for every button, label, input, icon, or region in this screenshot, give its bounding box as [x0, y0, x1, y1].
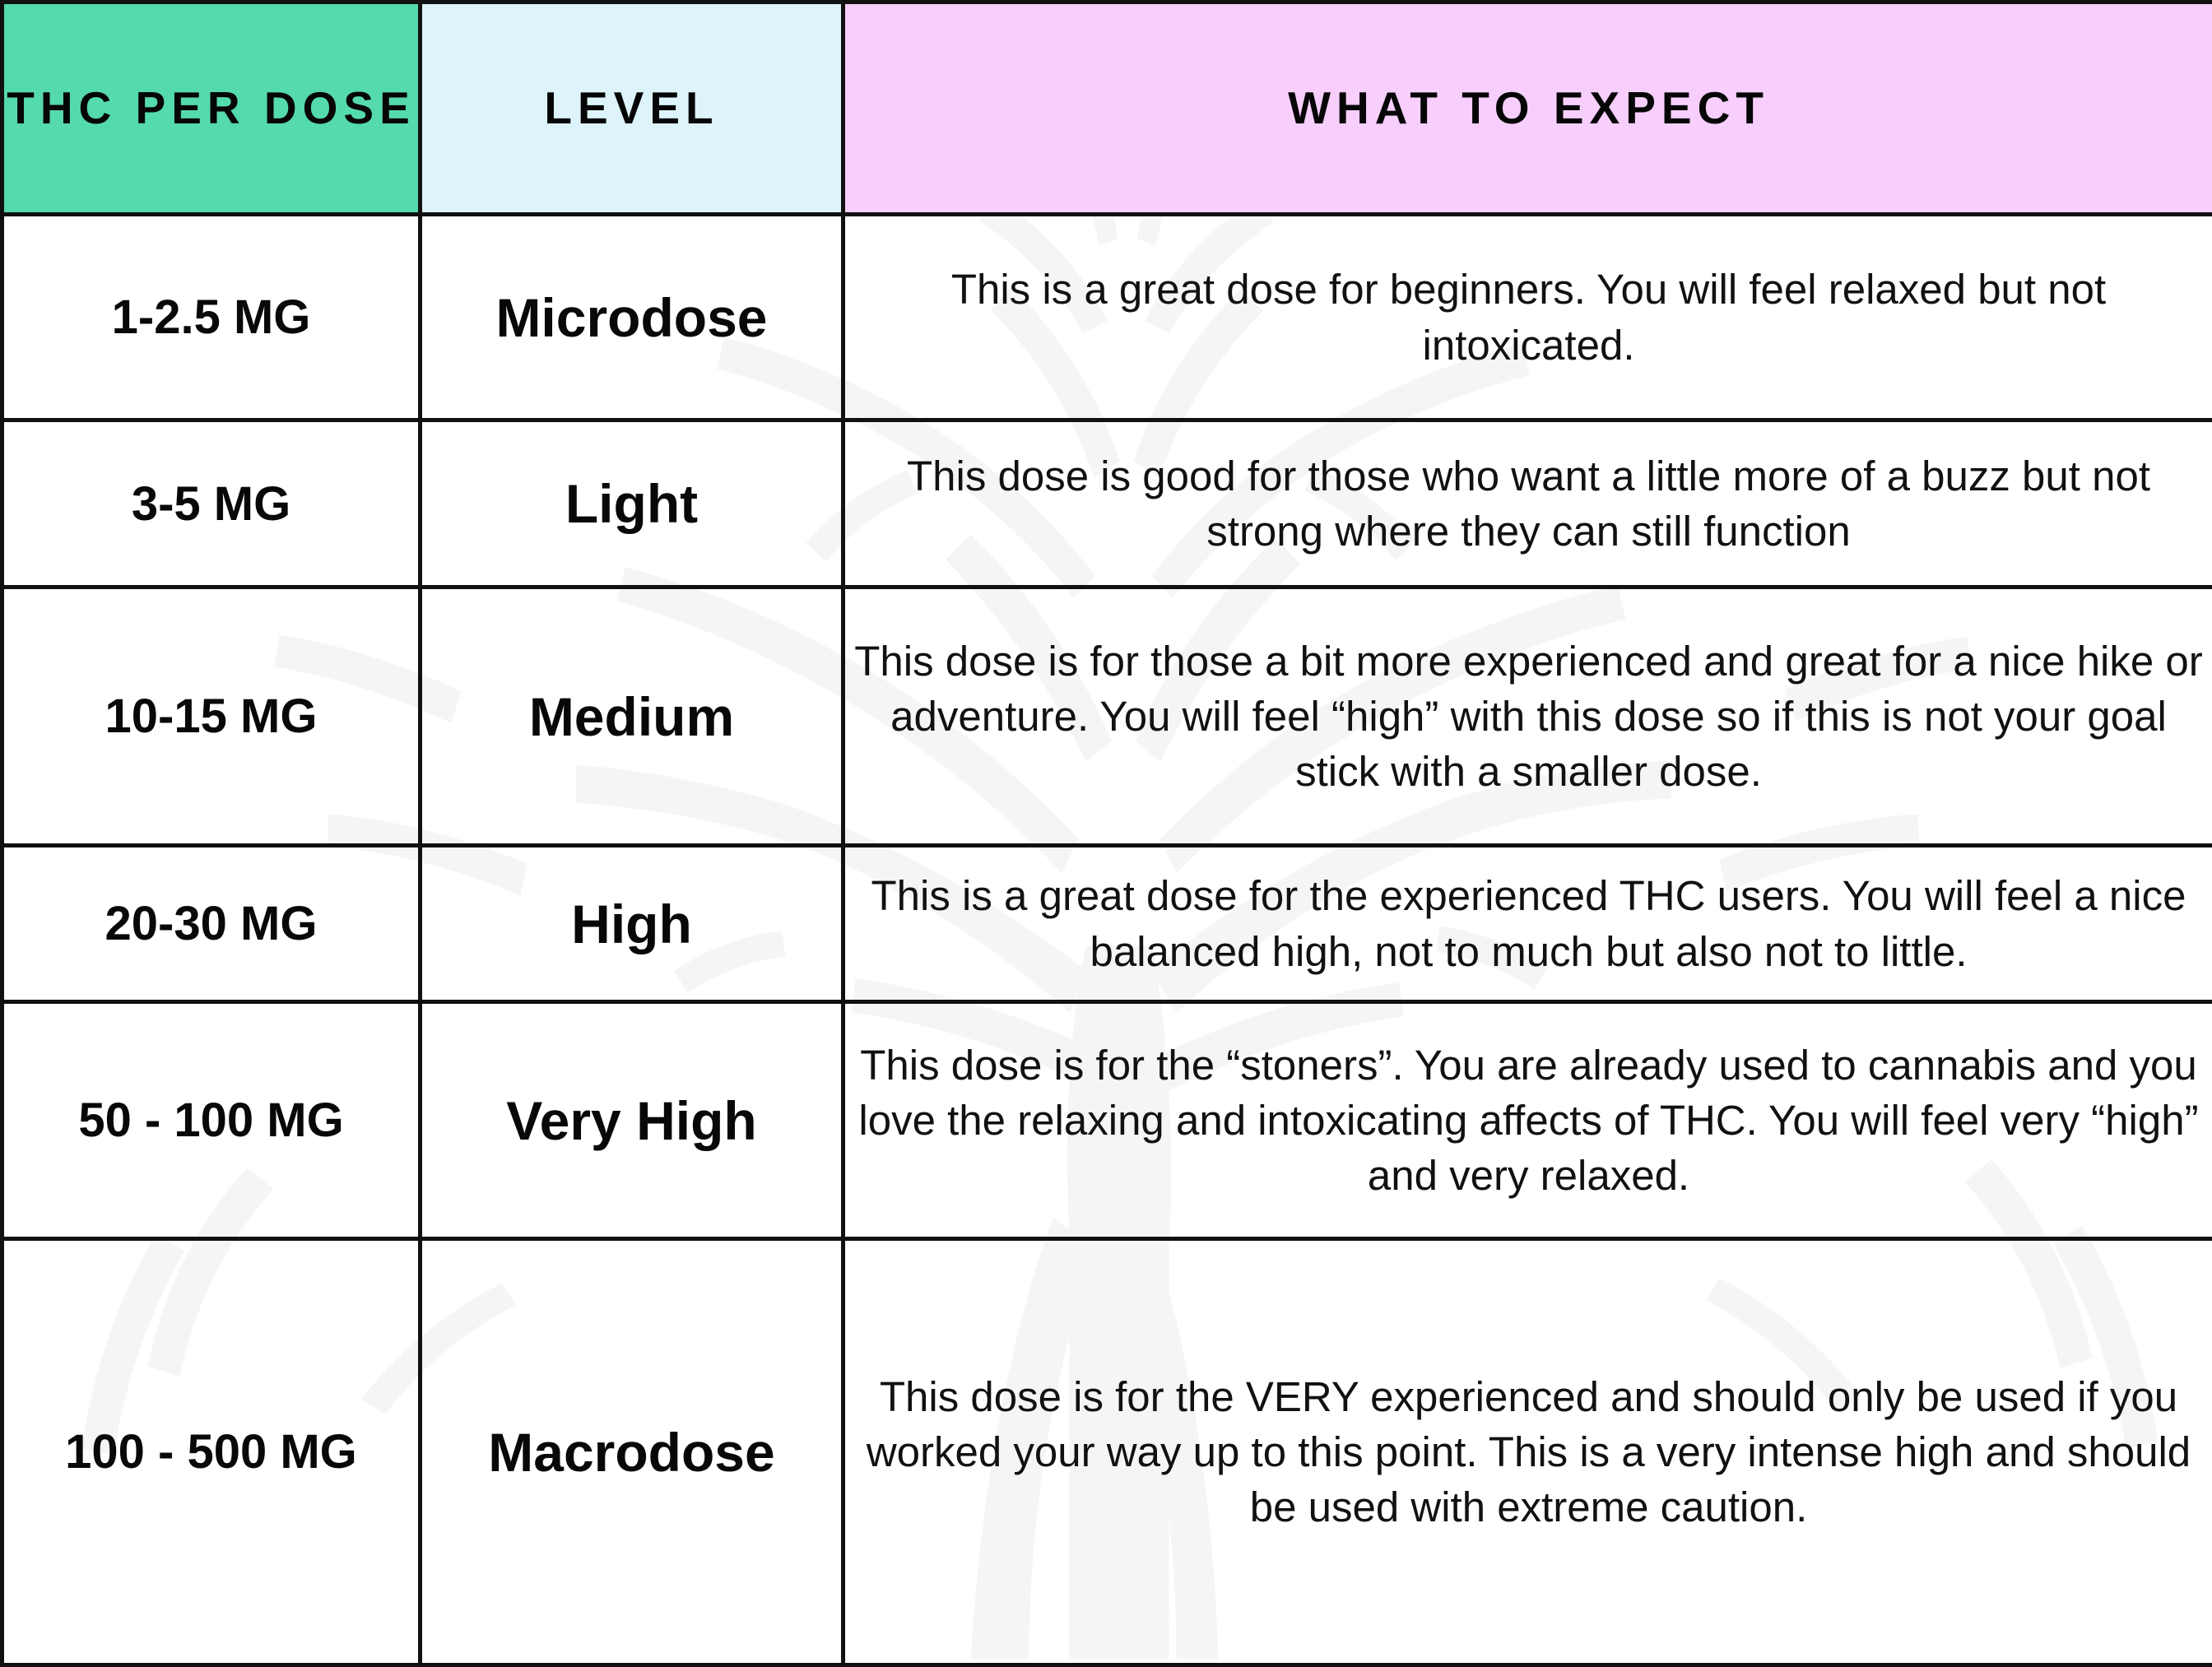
cell-what-to-expect: This dose is for those a bit more experi… [843, 587, 2212, 846]
cell-thc-per-dose: 3-5 MG [2, 420, 421, 587]
thc-dosage-table: THC PER DOSE LEVEL WHAT TO EXPECT 1-2.5 … [0, 0, 2212, 1667]
cell-what-to-expect: This dose is for the VERY experienced an… [843, 1239, 2212, 1665]
cell-thc-per-dose: 1-2.5 MG [2, 215, 421, 420]
column-header-what-to-expect: WHAT TO EXPECT [843, 2, 2212, 215]
cell-level: Very High [421, 1002, 843, 1239]
table-row: 3-5 MG Light This dose is good for those… [2, 420, 2212, 587]
table-body: 1-2.5 MG Microdose This is a great dose … [2, 215, 2212, 1665]
table-row: 50 - 100 MG Very High This dose is for t… [2, 1002, 2212, 1239]
table-row: 100 - 500 MG Macrodose This dose is for … [2, 1239, 2212, 1665]
cell-level: Light [421, 420, 843, 587]
cell-what-to-expect: This is a great dose for the experienced… [843, 846, 2212, 1002]
cell-level: Microdose [421, 215, 843, 420]
cell-what-to-expect: This dose is good for those who want a l… [843, 420, 2212, 587]
cell-level: High [421, 846, 843, 1002]
column-header-thc-per-dose: THC PER DOSE [2, 2, 421, 215]
cell-level: Macrodose [421, 1239, 843, 1665]
cell-thc-per-dose: 50 - 100 MG [2, 1002, 421, 1239]
cell-thc-per-dose: 20-30 MG [2, 846, 421, 1002]
cell-what-to-expect: This is a great dose for beginners. You … [843, 215, 2212, 420]
cell-level: Medium [421, 587, 843, 846]
table-row: 10-15 MG Medium This dose is for those a… [2, 587, 2212, 846]
cell-thc-per-dose: 10-15 MG [2, 587, 421, 846]
cell-thc-per-dose: 100 - 500 MG [2, 1239, 421, 1665]
table-header: THC PER DOSE LEVEL WHAT TO EXPECT [2, 2, 2212, 215]
table-row: 1-2.5 MG Microdose This is a great dose … [2, 215, 2212, 420]
column-header-level: LEVEL [421, 2, 843, 215]
header-row: THC PER DOSE LEVEL WHAT TO EXPECT [2, 2, 2212, 215]
cell-what-to-expect: This dose is for the “stoners”. You are … [843, 1002, 2212, 1239]
table-row: 20-30 MG High This is a great dose for t… [2, 846, 2212, 1002]
